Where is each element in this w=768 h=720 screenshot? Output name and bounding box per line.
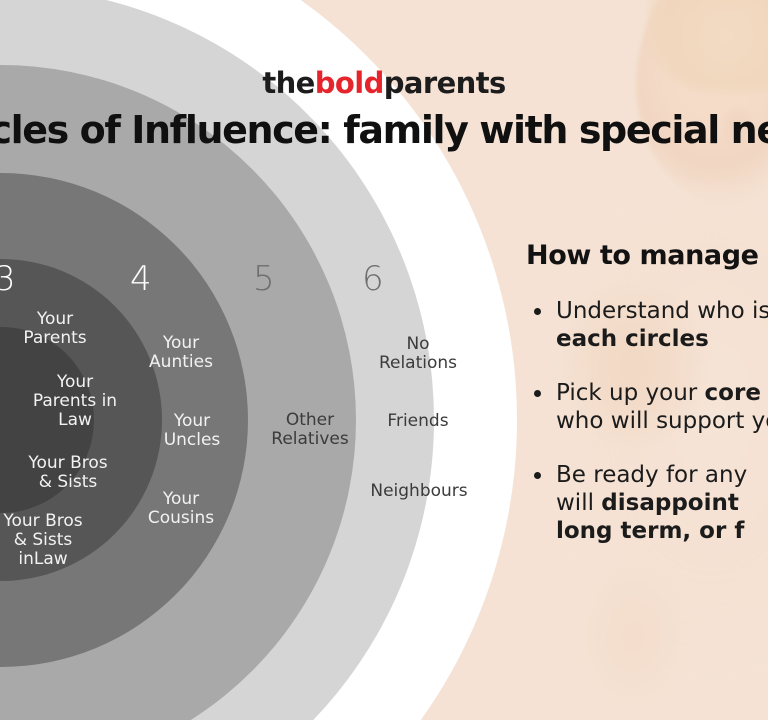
label-your-bros-sists: Your Bros & Sists	[6, 454, 130, 492]
label-friends: Friends	[370, 412, 466, 431]
ring-number-3: 3	[0, 262, 16, 296]
tip-3-line2: will	[556, 490, 601, 516]
tips-list: Understand who is ineach circles Pick up…	[520, 297, 768, 545]
ring-number-4: 4	[130, 262, 152, 296]
tips-panel: How to manage Understand who is ineach c…	[520, 240, 768, 571]
label-your-parents: Your Parents	[8, 310, 102, 348]
tip-1-line2: each circles	[556, 326, 709, 352]
page-title: Circles of Influence: family with specia…	[0, 108, 768, 152]
tip-2-line2: who will support you	[556, 408, 768, 434]
tip-item-2: Pick up your core teamwho will support y…	[520, 379, 768, 435]
label-other-relatives: Other Relatives	[256, 411, 364, 449]
brand-logo: theboldparents	[0, 66, 768, 100]
tip-1-line1: Understand who is in	[556, 298, 768, 324]
label-your-aunties: Your Aunties	[134, 334, 228, 372]
label-your-uncles: Your Uncles	[142, 412, 242, 450]
logo-parents: parents	[384, 66, 506, 100]
tip-item-1: Understand who is ineach circles	[520, 297, 768, 353]
panel-heading: How to manage	[526, 240, 768, 271]
label-your-parents-in-law: Your Parents in Law	[18, 373, 132, 431]
logo-the: the	[262, 66, 314, 100]
label-your-bros-sists-in-law: Your Bros & Sists inLaw	[0, 512, 104, 570]
tip-2-bold: core team	[705, 380, 768, 406]
tip-3-line1: Be ready for any	[556, 462, 747, 488]
ring-number-5: 5	[253, 262, 275, 296]
logo-bold: bold	[315, 66, 384, 100]
label-neighbours: Neighbours	[356, 482, 482, 501]
tip-3-bold: disappoint	[601, 490, 739, 516]
baby-head	[636, 0, 768, 208]
label-no-relations: No Relations	[368, 335, 468, 373]
slide-canvas: 3 4 5 6 Your Parents Your Parents in Law…	[0, 0, 768, 720]
tip-item-3: Be ready for anywill disappointlong term…	[520, 461, 768, 545]
ring-number-6: 6	[362, 262, 384, 296]
baby-shoulder	[568, 556, 698, 720]
tip-3-line3: long term, or f	[556, 518, 744, 544]
tip-2-line1: Pick up your	[556, 380, 705, 406]
label-your-cousins: Your Cousins	[128, 490, 234, 528]
